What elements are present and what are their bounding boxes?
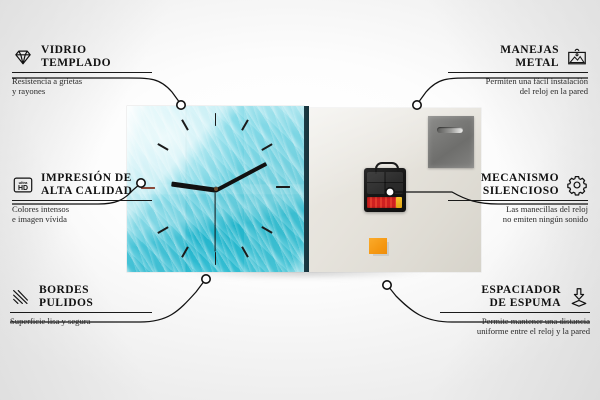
- battery-terminal: [396, 197, 402, 208]
- feature-desc: Colores intensos e imagen vívida: [12, 204, 152, 224]
- feature-hd-print: ultra HD IMPRESIÓN DE ALTA CALIDAD Color…: [12, 172, 152, 225]
- callout-dot-foam-spacer: [383, 281, 391, 289]
- foam-spacer: [369, 238, 387, 254]
- feature-title: VIDRIO TEMPLADO: [41, 44, 111, 69]
- divider: [12, 200, 152, 201]
- gear-icon: [566, 174, 588, 196]
- clock-mechanism: [364, 168, 406, 212]
- ultra-hd-icon: ultra HD: [12, 174, 34, 196]
- second-hand: [214, 190, 215, 252]
- clock-face: [127, 106, 304, 272]
- feature-title: ESPACIADOR DE ESPUMA: [481, 284, 561, 309]
- feature-title: IMPRESIÓN DE ALTA CALIDAD: [41, 172, 132, 197]
- foam-spacer-icon: [568, 286, 590, 308]
- feature-desc: Permite mantener una distancia uniforme …: [440, 316, 590, 336]
- feature-metal-hanger: MANEJAS METAL Permiten una fácil instala…: [448, 44, 588, 97]
- divider: [448, 200, 588, 201]
- clock-center-pin: [214, 187, 218, 191]
- diamond-icon: [12, 46, 34, 68]
- metal-hanger-plate: [428, 116, 474, 168]
- divider: [448, 72, 588, 73]
- ultra-hd-bottom: HD: [18, 185, 28, 192]
- feature-foam-spacer: ESPACIADOR DE ESPUMA Permite mantener un…: [440, 284, 590, 337]
- divider: [10, 312, 152, 313]
- battery: [367, 197, 399, 208]
- glass-edge: [304, 106, 309, 272]
- feature-desc: Las manecillas del reloj no emiten ningú…: [448, 204, 588, 224]
- picture-hanger-icon: [566, 46, 588, 68]
- mechanism-housing: [367, 172, 403, 194]
- feature-title: BORDES PULIDOS: [39, 284, 93, 309]
- feature-silent-mechanism: MECANISMO SILENCIOSO Las manecillas del …: [448, 172, 588, 225]
- divider: [12, 72, 152, 73]
- feature-desc: Resistencia a grietas y rayones: [12, 76, 152, 96]
- product-image: [127, 106, 472, 276]
- feature-desc: Superficie lisa y segura: [10, 316, 152, 326]
- feature-title: MECANISMO SILENCIOSO: [481, 172, 559, 197]
- divider: [440, 312, 590, 313]
- feature-tempered-glass: VIDRIO TEMPLADO Resistencia a grietas y …: [12, 44, 152, 97]
- feature-title: MANEJAS METAL: [500, 44, 559, 69]
- feature-desc: Permiten una fácil instalación del reloj…: [448, 76, 588, 96]
- feature-polished-edges: BORDES PULIDOS Superficie lisa y segura: [10, 284, 152, 326]
- infographic-canvas: VIDRIO TEMPLADO Resistencia a grietas y …: [0, 0, 600, 400]
- hanger-keyhole-slot: [437, 127, 463, 133]
- polished-edges-icon: [10, 286, 32, 308]
